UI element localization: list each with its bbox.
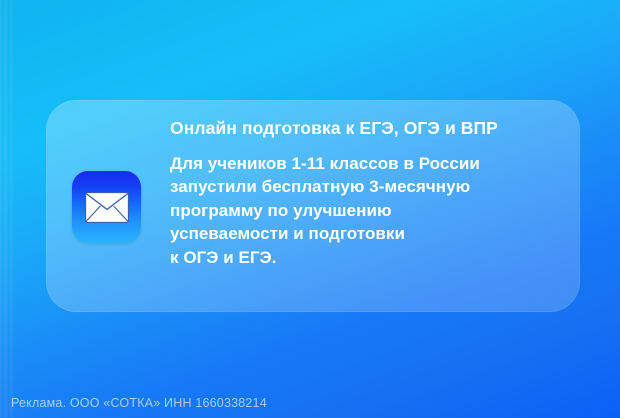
ad-text-block: Онлайн подготовка к ЕГЭ, ОГЭ и ВПР Для у…: [170, 118, 570, 269]
ad-body-text: Для учеников 1-11 классов в России запус…: [170, 152, 570, 270]
ad-body-line: успеваемости и подготовки: [170, 222, 570, 246]
legal-disclosure-text: Реклама. ООО «СОТКА» ИНН 1660338214: [0, 396, 267, 410]
ad-headline: Онлайн подготовка к ЕГЭ, ОГЭ и ВПР: [170, 118, 570, 139]
ad-banner[interactable]: Онлайн подготовка к ЕГЭ, ОГЭ и ВПР Для у…: [0, 0, 620, 418]
ad-body-line: программу по улучшению: [170, 199, 570, 223]
promo-card[interactable]: Онлайн подготовка к ЕГЭ, ОГЭ и ВПР Для у…: [46, 100, 580, 312]
ad-body-line: запустили бесплатную 3-месячную: [170, 175, 570, 199]
ad-body-line: Для учеников 1-11 классов в России: [170, 152, 570, 176]
mail-envelope-icon[interactable]: [72, 171, 141, 243]
ad-body-line: к ОГЭ и ЕГЭ.: [170, 246, 570, 270]
background-streaks: [0, 0, 14, 418]
legal-disclosure-bar: Реклама. ООО «СОТКА» ИНН 1660338214: [0, 388, 620, 418]
